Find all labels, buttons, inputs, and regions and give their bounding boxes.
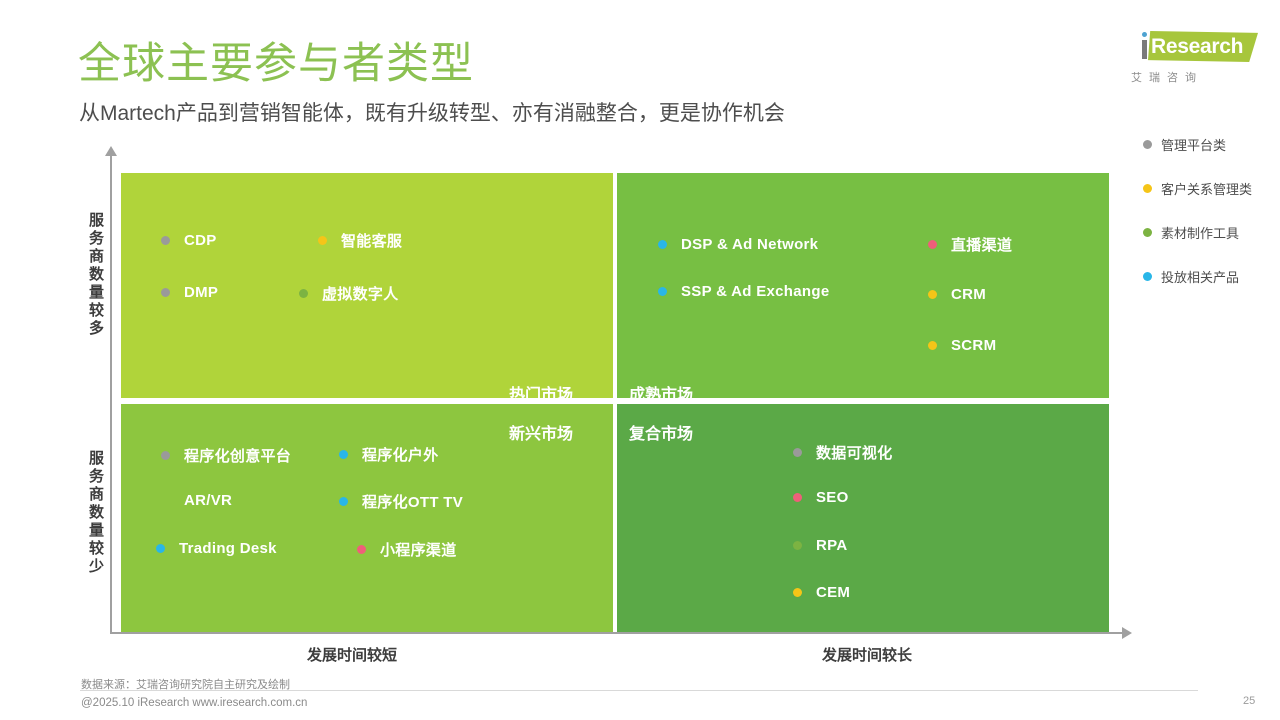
legend-dot-icon bbox=[1143, 228, 1152, 237]
legend: 管理平台类 客户关系管理类 素材制作工具 投放相关产品 bbox=[1143, 134, 1280, 310]
quadrant-item[interactable]: DSP & Ad Network bbox=[658, 236, 818, 253]
quadrant-item[interactable]: 智能客服 bbox=[318, 230, 402, 251]
quadrant-item-label: DMP bbox=[184, 284, 218, 301]
quadrant-item[interactable]: DMP bbox=[161, 284, 218, 301]
quadrant-item-label: SEO bbox=[816, 489, 849, 506]
page-subtitle: 从Martech产品到营销智能体，既有升级转型、亦有消融整合，更是协作机会 bbox=[79, 100, 785, 128]
quadrant-item[interactable]: 虚拟数字人 bbox=[299, 283, 399, 304]
page-number: 25 bbox=[1243, 695, 1255, 707]
quadrant-item-label: CDP bbox=[184, 232, 217, 249]
quadrant-item[interactable]: SCRM bbox=[928, 337, 996, 354]
quadrant-item-dot-icon bbox=[658, 240, 667, 249]
quadrant-vertical-divider bbox=[613, 173, 616, 632]
quadrant-item-dot-icon bbox=[357, 545, 366, 554]
quadrant-item-dot-icon bbox=[793, 448, 802, 457]
quadrant-item[interactable]: 程序化创意平台 bbox=[161, 445, 291, 466]
y-axis-line bbox=[110, 152, 112, 634]
quadrant-item-label: Trading Desk bbox=[179, 540, 277, 557]
legend-item[interactable]: 素材制作工具 bbox=[1143, 222, 1280, 242]
logo-i-stem-icon bbox=[1142, 40, 1147, 59]
page-title: 全球主要参与者类型 bbox=[78, 38, 474, 90]
quadrant-item[interactable]: RPA bbox=[793, 537, 847, 554]
quadrant-name-mature: 成熟市场 bbox=[629, 381, 693, 405]
quadrant-item-label: 智能客服 bbox=[341, 230, 402, 251]
y-axis-label-high: 服务商数量较多 bbox=[80, 212, 106, 338]
quadrant-item-dot-icon bbox=[161, 236, 170, 245]
quadrant-item-label: AR/VR bbox=[184, 492, 232, 509]
quadrant-item-dot-icon bbox=[793, 588, 802, 597]
quadrant-item-label: RPA bbox=[816, 537, 847, 554]
quadrant-item[interactable]: 直播渠道 bbox=[928, 234, 1012, 255]
x-axis-line bbox=[110, 632, 1124, 634]
quadrant-mature-market[interactable]: DSP & Ad Network直播渠道SSP & Ad ExchangeCRM… bbox=[617, 173, 1109, 401]
footer-divider bbox=[80, 690, 1198, 691]
legend-item-label: 投放相关产品 bbox=[1161, 267, 1239, 286]
legend-dot-icon bbox=[1143, 140, 1152, 149]
legend-item[interactable]: 投放相关产品 bbox=[1143, 266, 1280, 286]
quadrant-item-label: CRM bbox=[951, 286, 986, 303]
quadrant-item[interactable]: CEM bbox=[793, 584, 850, 601]
legend-item-label: 客户关系管理类 bbox=[1161, 179, 1252, 198]
quadrant-item-label: 程序化OTT TV bbox=[362, 491, 463, 512]
logo-chinese-name: 艾瑞咨询 bbox=[1131, 69, 1203, 85]
quadrant-item-dot-icon bbox=[299, 289, 308, 298]
logo-i-dot-icon bbox=[1142, 32, 1147, 37]
quadrant-item-dot-icon bbox=[161, 496, 170, 505]
quadrant-name-hot: 热门市场 bbox=[509, 381, 573, 405]
quadrant-item-dot-icon bbox=[793, 493, 802, 502]
quadrant-item-dot-icon bbox=[658, 287, 667, 296]
quadrant-item-dot-icon bbox=[161, 288, 170, 297]
quadrant-item[interactable]: CDP bbox=[161, 232, 217, 249]
footer-copyright: @2025.10 iResearch www.iresearch.com.cn bbox=[81, 697, 307, 709]
quadrant-item-label: CEM bbox=[816, 584, 850, 601]
legend-item-label: 素材制作工具 bbox=[1161, 223, 1239, 242]
legend-item[interactable]: 管理平台类 bbox=[1143, 134, 1280, 154]
logo-wordmark: Research bbox=[1151, 36, 1243, 57]
quadrant-item[interactable]: CRM bbox=[928, 286, 986, 303]
logo-mark: Research bbox=[1120, 27, 1258, 65]
quadrant-item-label: SCRM bbox=[951, 337, 996, 354]
quadrant-name-composite: 复合市场 bbox=[629, 420, 693, 444]
quadrant-item-label: 程序化户外 bbox=[362, 444, 439, 465]
x-axis-label-short: 发展时间较短 bbox=[307, 644, 397, 665]
quadrant-item-dot-icon bbox=[161, 451, 170, 460]
quadrant-item[interactable]: SEO bbox=[793, 489, 849, 506]
quadrant-item-dot-icon bbox=[156, 544, 165, 553]
x-axis-arrow-icon bbox=[1122, 627, 1132, 639]
quadrant-item[interactable]: Trading Desk bbox=[156, 540, 277, 557]
iresearch-logo: Research 艾瑞咨询 bbox=[1120, 27, 1258, 89]
quadrant-item-label: 小程序渠道 bbox=[380, 539, 457, 560]
legend-dot-icon bbox=[1143, 272, 1152, 281]
y-axis-arrow-icon bbox=[105, 146, 117, 156]
quadrant-hot-market[interactable]: CDP智能客服DMP虚拟数字人 bbox=[121, 173, 613, 401]
legend-item[interactable]: 客户关系管理类 bbox=[1143, 178, 1280, 198]
quadrant-item[interactable]: AR/VR bbox=[161, 492, 232, 509]
quadrant-item-label: 直播渠道 bbox=[951, 234, 1012, 255]
quadrant-horizontal-divider bbox=[121, 398, 1109, 401]
quadrant-item-dot-icon bbox=[928, 341, 937, 350]
quadrant-item-dot-icon bbox=[928, 290, 937, 299]
quadrant-item-dot-icon bbox=[793, 541, 802, 550]
quadrant-item-dot-icon bbox=[339, 497, 348, 506]
quadrant-item-dot-icon bbox=[928, 240, 937, 249]
legend-item-label: 管理平台类 bbox=[1161, 135, 1226, 154]
slide-canvas: 全球主要参与者类型 从Martech产品到营销智能体，既有升级转型、亦有消融整合… bbox=[0, 0, 1280, 720]
quadrant-name-emerging: 新兴市场 bbox=[509, 420, 573, 444]
quadrant-item[interactable]: 程序化OTT TV bbox=[339, 491, 463, 512]
quadrant-item[interactable]: 小程序渠道 bbox=[357, 539, 457, 560]
quadrant-item-label: 程序化创意平台 bbox=[184, 445, 291, 466]
quadrant-item[interactable]: 程序化户外 bbox=[339, 444, 439, 465]
quadrant-item-dot-icon bbox=[318, 236, 327, 245]
x-axis-label-long: 发展时间较长 bbox=[822, 644, 912, 665]
quadrant-item[interactable]: 数据可视化 bbox=[793, 442, 893, 463]
quadrant-item[interactable]: SSP & Ad Exchange bbox=[658, 283, 829, 300]
quadrant-item-label: 数据可视化 bbox=[816, 442, 893, 463]
quadrant-item-dot-icon bbox=[339, 450, 348, 459]
quadrant-item-label: DSP & Ad Network bbox=[681, 236, 818, 253]
quadrant-item-label: 虚拟数字人 bbox=[322, 283, 399, 304]
legend-dot-icon bbox=[1143, 184, 1152, 193]
quadrant-item-label: SSP & Ad Exchange bbox=[681, 283, 829, 300]
y-axis-label-low: 服务商数量较少 bbox=[80, 450, 106, 576]
